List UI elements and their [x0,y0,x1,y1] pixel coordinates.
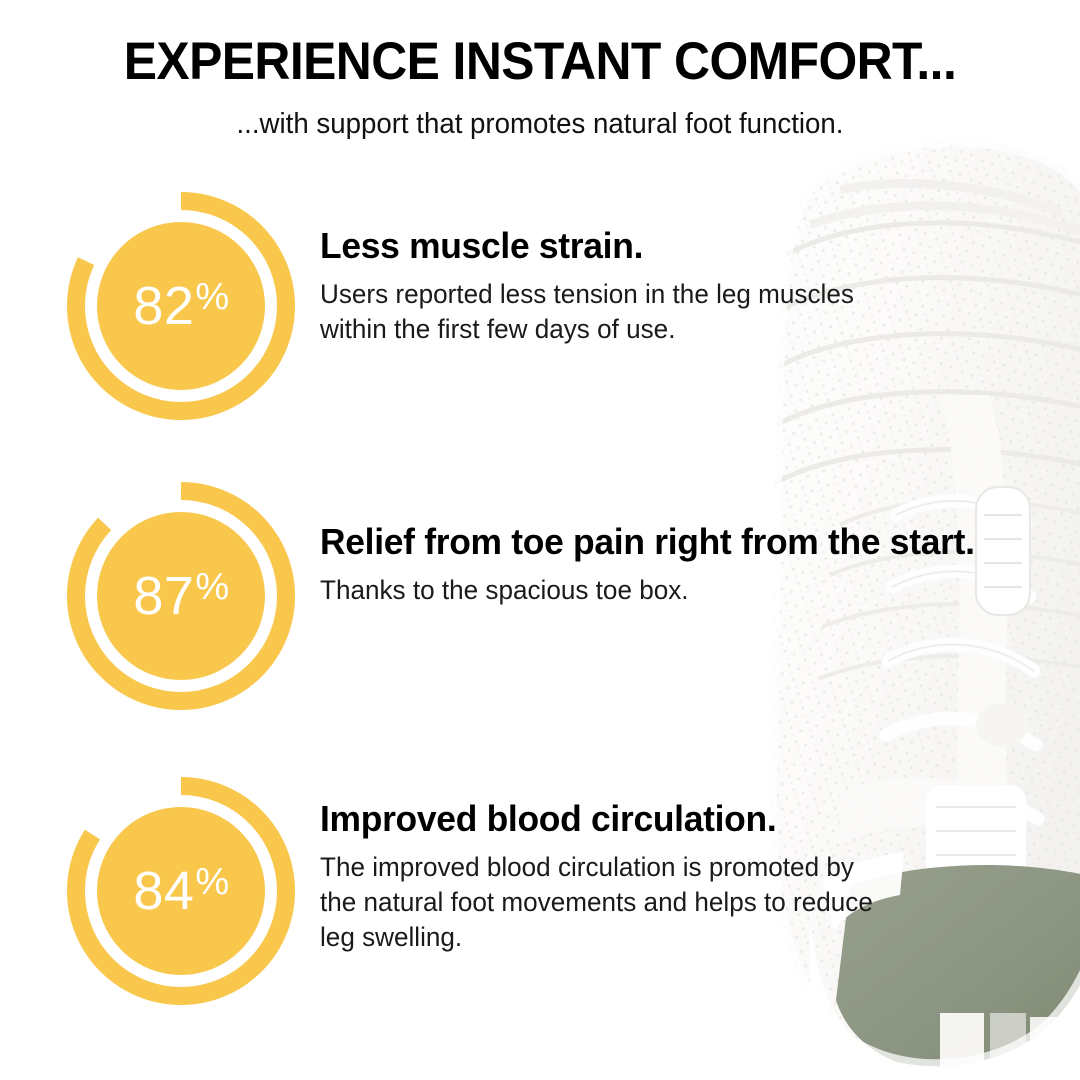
percent-label: 87% [60,475,302,717]
percent-value: 87 [133,569,194,623]
benefit-title: Improved blood circulation. [320,798,864,840]
percent-label: 82% [60,185,302,427]
progress-ring-82: 82% [60,185,302,427]
benefit-row-blood-circulation: 84% Improved blood circulation. The impr… [60,770,1020,1012]
progress-ring-87: 87% [60,475,302,717]
percent-value: 82 [133,279,194,333]
benefit-body: The improved blood circulation is promot… [320,850,873,956]
page-subtitle: ...with support that promotes natural fo… [16,107,1064,141]
benefit-row-toe-pain-relief: 87% Relief from toe pain right from the … [60,475,1020,717]
benefit-text-block: Less muscle strain. Users reported less … [302,185,862,347]
percent-sign: % [195,863,229,901]
benefit-text-block: Improved blood circulation. The improved… [302,770,881,956]
progress-ring-84: 84% [60,770,302,1012]
benefit-title: Relief from toe pain right from the star… [320,521,975,563]
percent-sign: % [195,278,229,316]
benefit-title: Less muscle strain. [320,225,846,267]
benefit-text-block: Relief from toe pain right from the star… [302,475,995,608]
page-title: EXPERIENCE INSTANT COMFORT... [32,34,1047,90]
benefit-body: Thanks to the spacious toe box. [320,573,985,608]
percent-sign: % [195,568,229,606]
benefit-body: Users reported less tension in the leg m… [320,277,854,347]
header: EXPERIENCE INSTANT COMFORT... ...with su… [0,34,1080,141]
benefits-list: 82% Less muscle strain. Users reported l… [0,0,1080,1080]
percent-value: 84 [133,864,194,918]
comfort-benefits-poster: EXPERIENCE INSTANT COMFORT... ...with su… [0,0,1080,1080]
percent-label: 84% [60,770,302,1012]
benefit-row-less-muscle-strain: 82% Less muscle strain. Users reported l… [60,185,1020,427]
